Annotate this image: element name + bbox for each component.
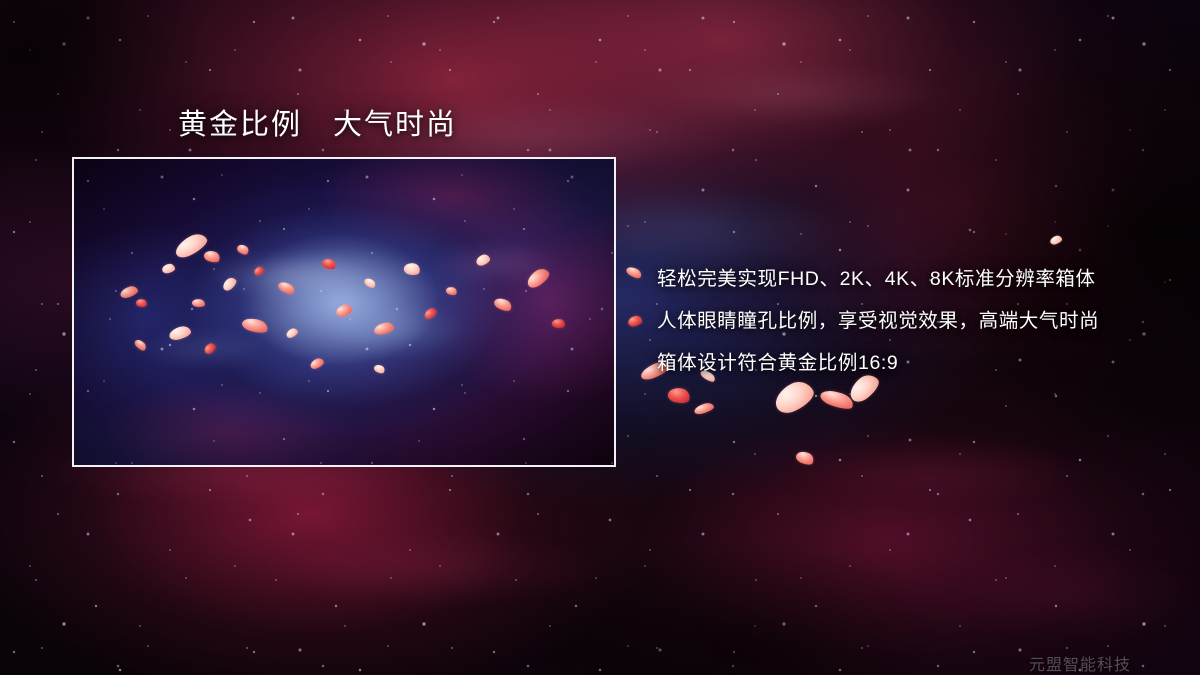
page-title: 黄金比例 大气时尚	[178, 101, 457, 143]
watermark: 元盟智能科技	[1029, 651, 1131, 675]
photo-vignette	[74, 159, 614, 465]
body-line-1: 轻松完美实现FHD、2K、4K、8K标准分辨率箱体	[657, 258, 1177, 300]
framed-photo	[72, 157, 616, 467]
body-line-3: 箱体设计符合黄金比例16:9	[657, 342, 1177, 384]
body-text-block: 轻松完美实现FHD、2K、4K、8K标准分辨率箱体 人体眼睛瞳孔比例，享受视觉效…	[657, 258, 1177, 384]
body-line-2: 人体眼睛瞳孔比例，享受视觉效果，高端大气时尚	[657, 300, 1177, 342]
presentation-slide: 黄金比例 大气时尚 轻松完美实现FHD、2K、4K、8K标准分辨率箱体 人体眼睛…	[0, 0, 1200, 675]
